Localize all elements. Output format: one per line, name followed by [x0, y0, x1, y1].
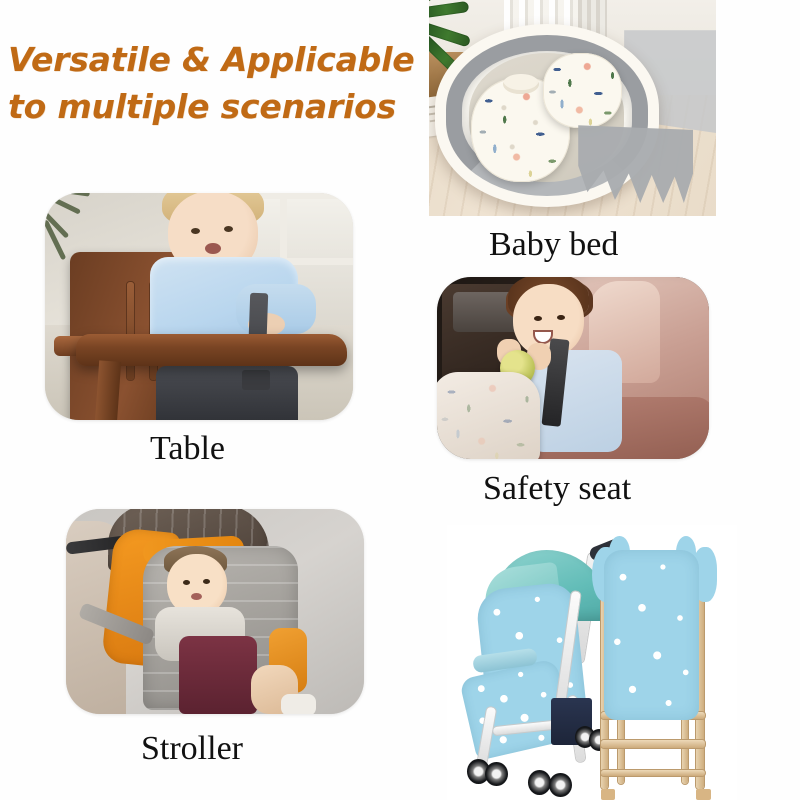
high-chair-foot [601, 789, 616, 800]
harness-buckle [242, 370, 270, 390]
toddler-eye [224, 226, 233, 232]
high-chair-leg [95, 360, 121, 420]
toddler-eye [191, 228, 200, 234]
stroller-wheel [528, 770, 551, 795]
toddler-mouth [205, 243, 221, 254]
baby-outfit [179, 636, 256, 714]
caption-baby-bed: Baby bed [489, 225, 618, 265]
photo-product-applications [447, 525, 737, 800]
toddler-eye [534, 316, 542, 321]
stroller-wheel [549, 773, 572, 798]
plant-leaf [45, 193, 81, 215]
photo-baby-bed [429, 0, 716, 216]
photo-stroller [66, 509, 364, 714]
stroller-scene [66, 509, 364, 714]
product-scene [447, 525, 737, 800]
table-scene [45, 193, 353, 420]
baby-bed-scene [429, 0, 716, 216]
caption-safety-seat: Safety seat [483, 469, 631, 509]
caption-table: Table [150, 429, 225, 469]
safety-seat-scene [437, 277, 709, 459]
photo-table [45, 193, 353, 420]
leaf-print-pattern [543, 53, 622, 129]
caption-stroller: Stroller [141, 729, 243, 769]
high-chair-rail [601, 770, 705, 777]
baby-eye [183, 580, 190, 585]
head-pillow [543, 53, 622, 129]
headline-text: Versatile & Applicable to multiple scena… [8, 36, 438, 130]
baby-head [167, 554, 227, 616]
leaf-print-seat-insert [437, 372, 540, 459]
leaf-print-pattern [437, 372, 540, 459]
baby-eye [203, 579, 210, 584]
toddler-eye [557, 315, 565, 320]
high-chair-foot [696, 789, 711, 800]
photo-safety-seat [437, 277, 709, 459]
high-chair-footrest [601, 740, 705, 748]
product-infographic-poster: Versatile & Applicable to multiple scena… [0, 0, 800, 800]
star-print-pattern [604, 550, 700, 721]
stroller-wheel [485, 762, 508, 787]
star-print-cushion-high-chair [604, 550, 700, 721]
toddler-pants [156, 366, 298, 420]
plant-frond [429, 0, 469, 19]
baby-sock [281, 694, 317, 715]
